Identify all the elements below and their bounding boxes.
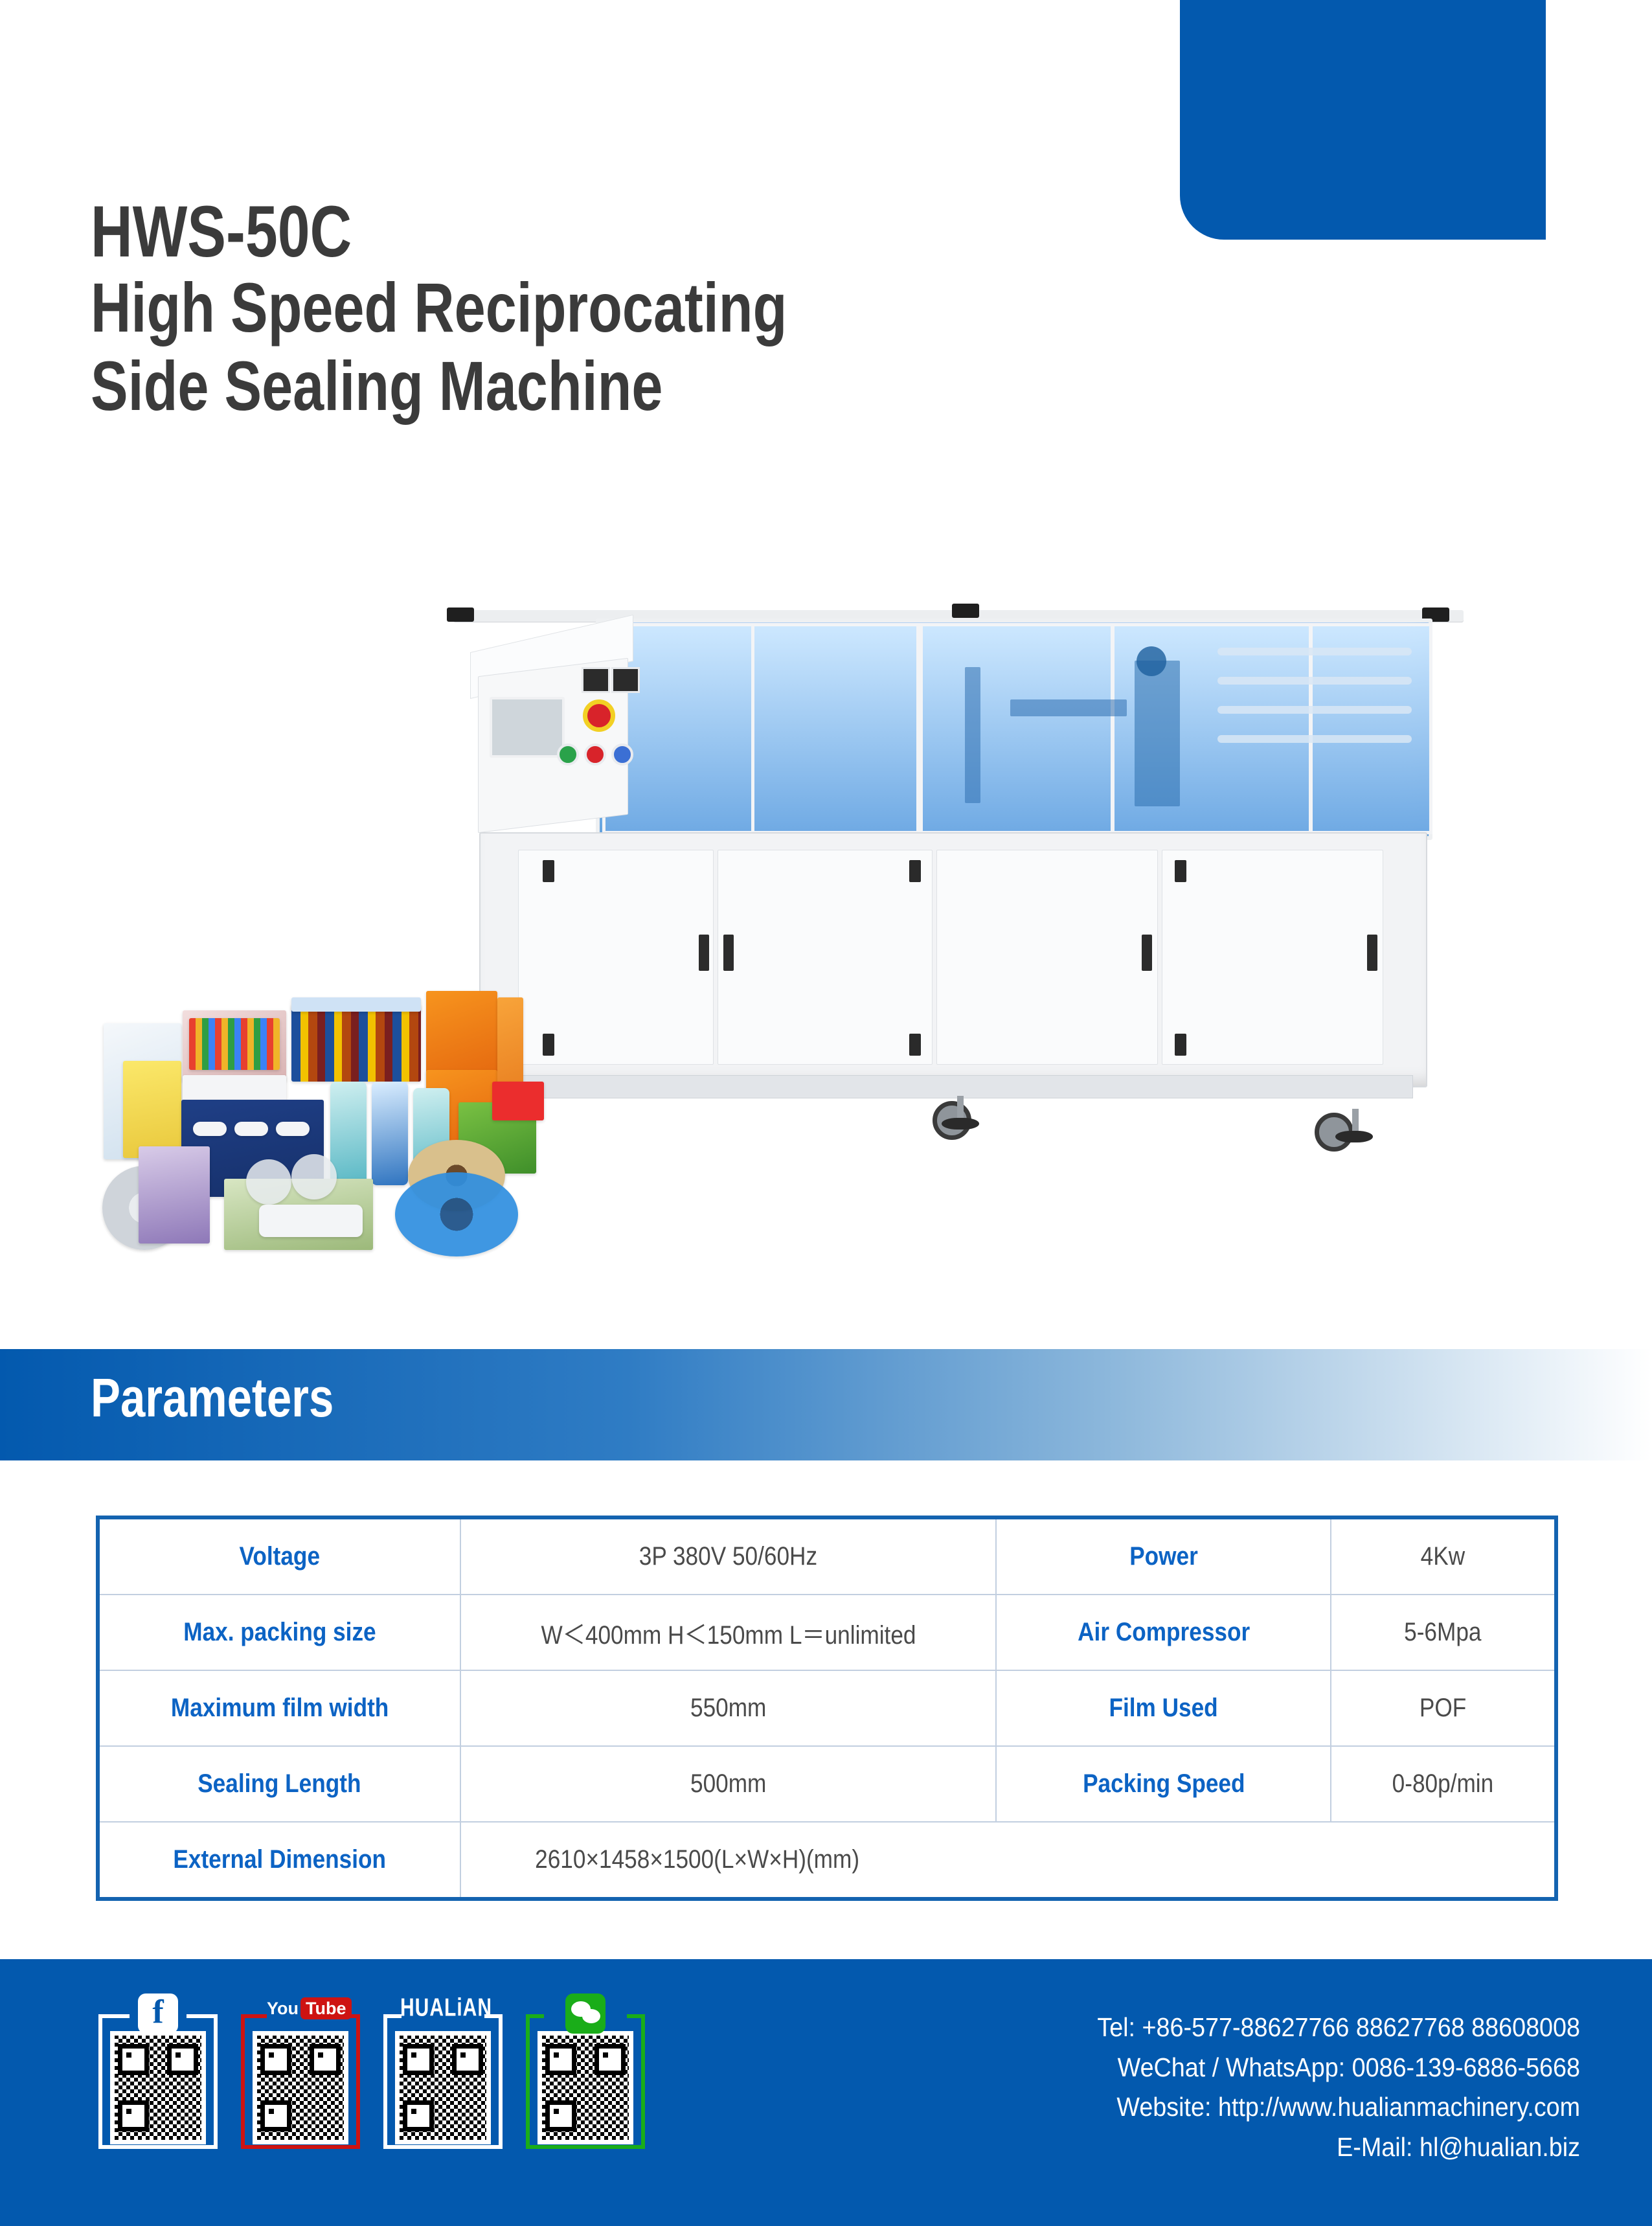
title-line-1: High Speed Reciprocating — [91, 269, 930, 347]
qr-code-image[interactable] — [110, 2031, 206, 2144]
temperature-meter-1 — [582, 667, 610, 693]
param-value-cell: 0-80p/min — [1331, 1746, 1556, 1822]
rail-cap-mid — [952, 604, 979, 618]
packaged-products-sample — [97, 984, 680, 1263]
start-button[interactable] — [557, 744, 579, 766]
youtube-icon[interactable]: YouTube — [267, 1999, 337, 2028]
wechat-icon[interactable] — [565, 1993, 605, 2034]
contact-info: Tel: +86-577-88627766 88627768 88608008 … — [984, 2008, 1580, 2167]
internal-roller-4 — [1217, 735, 1412, 743]
leveling-rod-2 — [1352, 1109, 1359, 1131]
param-value-cell: 3P 380V 50/60Hz — [460, 1517, 997, 1595]
param-key-cell: Voltage — [98, 1517, 460, 1595]
table-row: Maximum film width 550mm Film Used POF — [98, 1670, 1556, 1746]
stop-button[interactable] — [584, 744, 606, 766]
glass-panel-2 — [751, 623, 920, 834]
brand-logo-block: HUALiAN ® MACHINERY — [1180, 0, 1546, 240]
parameters-heading: Parameters — [91, 1367, 334, 1429]
leveling-rod-1 — [957, 1096, 964, 1118]
table-row: External Dimension 2610×1458×1500(L×W×H)… — [98, 1822, 1556, 1899]
cabinet-door-2[interactable] — [718, 850, 933, 1065]
qr-code-image[interactable] — [537, 2031, 633, 2144]
param-key-cell: Sealing Length — [98, 1746, 460, 1822]
product-photo — [0, 570, 1652, 1334]
title-line-2: Side Sealing Machine — [91, 347, 930, 426]
param-key-cell: Film Used — [996, 1670, 1331, 1746]
internal-column-1 — [965, 667, 980, 803]
page-title: HWS-50C High Speed Reciprocating Side Se… — [91, 194, 1140, 426]
cabinet-door-3[interactable] — [936, 850, 1158, 1065]
internal-roller-2 — [1217, 677, 1412, 685]
parameters-table: Voltage 3P 380V 50/60Hz Power 4Kw Max. p… — [96, 1516, 1558, 1901]
qr-code-image[interactable] — [253, 2031, 348, 2144]
hualian-logo-icon: HUALiAN — [400, 1997, 488, 2027]
glass-panel-3 — [920, 623, 1114, 834]
param-value-cell: W＜400mm H＜150mm L＝unlimited — [460, 1595, 997, 1670]
cabinet-door-4[interactable] — [1162, 850, 1383, 1065]
param-value-cell: 550mm — [460, 1670, 997, 1746]
emergency-stop-button[interactable] — [583, 699, 615, 732]
param-key-cell: Air Compressor — [996, 1595, 1331, 1670]
contact-wechat: WeChat / WhatsApp: 0086-139-6886-5668 — [984, 2048, 1580, 2088]
param-value-cell: 5-6Mpa — [1331, 1595, 1556, 1670]
hmi-touchscreen[interactable] — [490, 697, 565, 758]
internal-roller-3 — [1217, 706, 1412, 714]
param-key-cell: Max. packing size — [98, 1595, 460, 1670]
door-hinge-4 — [909, 1034, 921, 1056]
door-hinge-5 — [1175, 860, 1186, 882]
model-number: HWS-50C — [91, 194, 930, 269]
param-value-cell: 2610×1458×1500(L×W×H)(mm) — [460, 1822, 1556, 1899]
leveling-foot-2 — [1335, 1131, 1373, 1142]
table-row: Max. packing size W＜400mm H＜150mm L＝unli… — [98, 1595, 1556, 1670]
param-key-cell: Maximum film width — [98, 1670, 460, 1746]
param-value-cell: POF — [1331, 1670, 1556, 1746]
internal-wheel — [1137, 646, 1166, 676]
leveling-foot-1 — [942, 1118, 979, 1130]
contact-email[interactable]: E-Mail: hl@hualian.biz — [984, 2128, 1580, 2168]
param-key-cell: External Dimension — [98, 1822, 460, 1899]
table-row: Sealing Length 500mm Packing Speed 0-80p… — [98, 1746, 1556, 1822]
reset-button[interactable] — [611, 744, 633, 766]
facebook-icon[interactable]: f — [138, 1993, 178, 2034]
qr-code-image[interactable] — [395, 2031, 491, 2144]
internal-cylinder — [1135, 661, 1180, 806]
param-key-cell: Packing Speed — [996, 1746, 1331, 1822]
contact-tel: Tel: +86-577-88627766 88627768 88608008 — [984, 2008, 1580, 2048]
temperature-meter-2 — [611, 667, 640, 693]
param-value-cell: 500mm — [460, 1746, 997, 1822]
internal-roller-1 — [1217, 648, 1412, 655]
contact-website[interactable]: Website: http://www.hualianmachinery.com — [984, 2087, 1580, 2128]
rail-cap-left — [447, 608, 474, 622]
door-hinge-3 — [909, 860, 921, 882]
internal-beam — [1010, 699, 1127, 716]
param-key-cell: Power — [996, 1517, 1331, 1595]
door-hinge-1 — [543, 860, 554, 882]
table-row: Voltage 3P 380V 50/60Hz Power 4Kw — [98, 1517, 1556, 1595]
param-value-cell: 4Kw — [1331, 1517, 1556, 1595]
door-hinge-6 — [1175, 1034, 1186, 1056]
